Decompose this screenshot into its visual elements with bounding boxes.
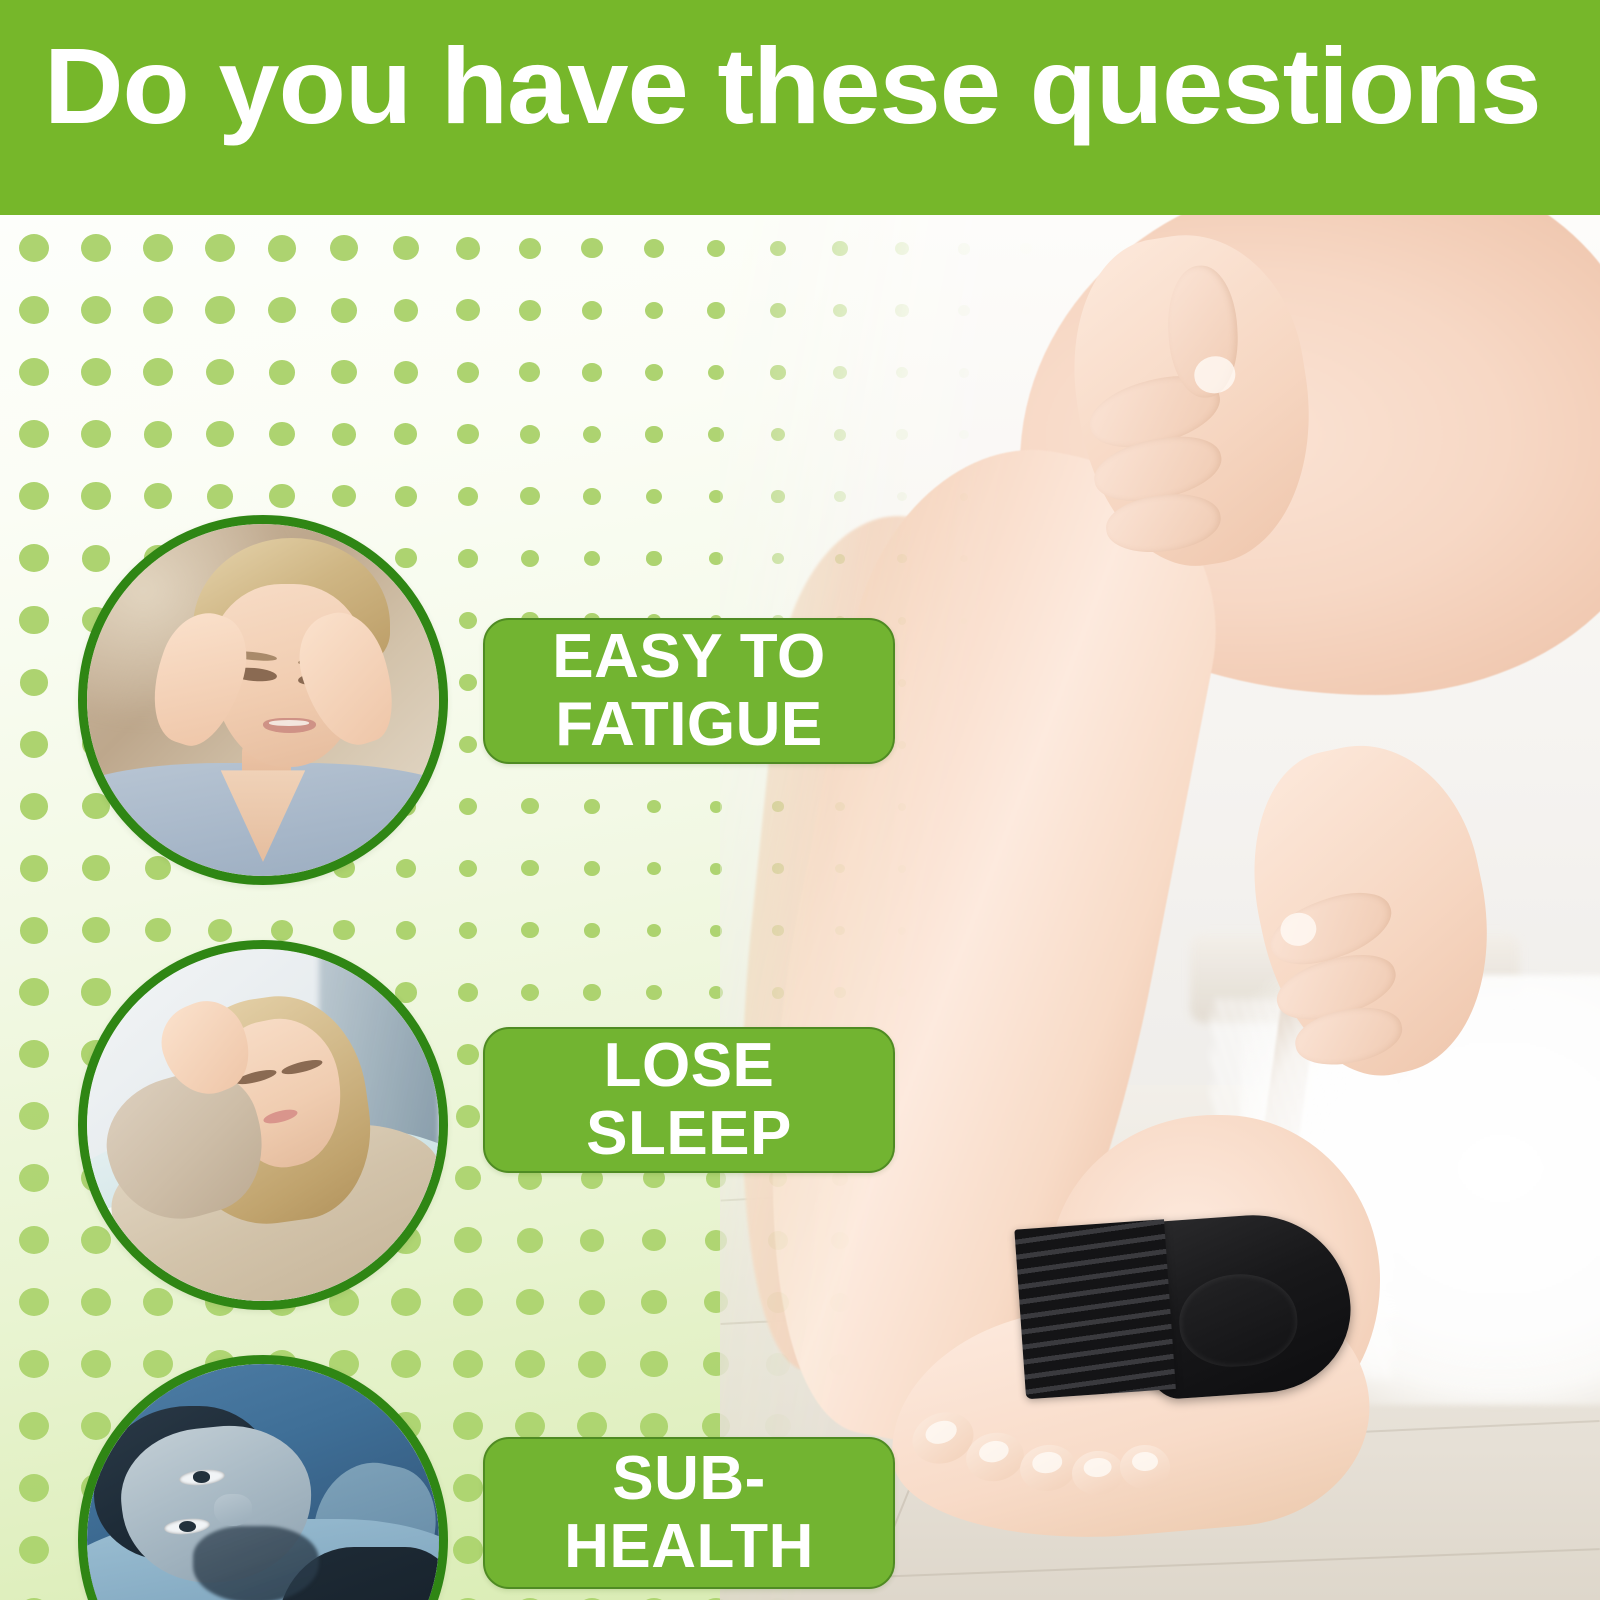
infographic-poster: Do you have these questions — [0, 0, 1600, 1600]
background-dot — [453, 1288, 483, 1316]
background-dot — [577, 1412, 607, 1440]
background-dot — [332, 485, 356, 507]
background-dot — [584, 551, 601, 567]
background-dot — [458, 549, 478, 567]
background-dot — [520, 487, 539, 505]
background-dot — [517, 1228, 543, 1253]
background-dot — [144, 483, 172, 509]
background-dot — [19, 234, 49, 262]
background-dot — [642, 1229, 665, 1251]
background-dot — [584, 923, 600, 938]
background-dot — [457, 424, 479, 444]
background-dot — [453, 1350, 483, 1378]
symptom-badge-fatigue[interactable]: EASY TO FATIGUE — [483, 618, 895, 764]
background-dot — [582, 301, 602, 320]
background-dot — [145, 918, 171, 942]
background-dot — [269, 484, 294, 508]
background-dot — [206, 359, 234, 386]
background-dot — [515, 1350, 545, 1378]
symptom-badge-fatigue-label: EASY TO FATIGUE — [499, 623, 879, 759]
background-dot — [516, 1289, 544, 1315]
background-dot — [396, 921, 416, 940]
background-dot — [458, 487, 479, 506]
background-dot — [19, 482, 49, 510]
background-dot — [640, 1351, 667, 1376]
background-dot — [459, 674, 478, 691]
background-dot — [519, 362, 540, 382]
background-dot — [19, 1164, 49, 1192]
background-dot — [19, 1412, 49, 1440]
background-dot — [646, 489, 662, 504]
background-dot — [583, 426, 602, 443]
background-dot — [521, 550, 539, 567]
background-dot — [457, 362, 479, 383]
background-dot — [269, 360, 296, 385]
background-dot — [456, 299, 479, 321]
background-dot — [457, 1044, 479, 1065]
background-dot — [459, 736, 478, 753]
background-dot — [143, 296, 173, 324]
background-dot — [81, 420, 111, 448]
badge-line-2: SLEEP — [586, 1099, 792, 1168]
background-dot — [144, 421, 173, 448]
background-dot — [271, 920, 294, 942]
header-banner: Do you have these questions — [0, 0, 1600, 215]
background-dot — [641, 1290, 666, 1314]
background-dot — [645, 302, 664, 320]
background-dot — [19, 1288, 49, 1316]
background-dot — [453, 1412, 483, 1440]
background-dot — [459, 860, 478, 877]
background-dot — [19, 1350, 49, 1378]
background-dot — [393, 236, 419, 260]
badge-line-2: FATIGUE — [555, 690, 823, 759]
background-dot — [584, 799, 600, 814]
background-dot — [583, 488, 601, 505]
background-dot — [330, 235, 357, 261]
sleepless-man-photo — [78, 1355, 448, 1600]
background-dot — [647, 862, 661, 875]
background-dot — [81, 296, 111, 324]
background-dot — [580, 1229, 605, 1252]
background-dot — [19, 544, 49, 572]
toe — [1120, 1445, 1170, 1489]
background-dot — [581, 238, 602, 258]
badge-line-1: LOSE — [604, 1031, 775, 1100]
background-dot — [456, 1105, 480, 1128]
background-dot — [521, 860, 538, 876]
background-dot — [332, 423, 356, 446]
background-dot — [19, 1474, 49, 1502]
background-dot — [81, 482, 110, 510]
background-dot — [19, 1040, 49, 1068]
background-dot — [19, 606, 48, 633]
background-dot — [644, 239, 664, 258]
background-dot — [20, 731, 49, 758]
background-dot — [20, 669, 49, 696]
background-dot — [207, 484, 234, 509]
background-dot — [582, 363, 602, 381]
background-dot — [520, 425, 540, 444]
hero-photo — [720, 215, 1600, 1600]
content-area: EASY TO FATIGUE LOSE SLEEP SUB- HEALTH — [0, 215, 1600, 1600]
background-dot — [583, 984, 600, 1000]
background-dot — [521, 984, 540, 1002]
arch-support-brace-product — [1013, 1189, 1357, 1422]
background-dot — [20, 793, 49, 820]
symptom-badge-sleep-label: LOSE SLEEP — [499, 1032, 879, 1168]
background-dot — [647, 924, 661, 937]
badge-line-1: SUB- — [612, 1444, 766, 1513]
background-dot — [19, 1536, 49, 1564]
background-dot — [268, 235, 297, 262]
background-dot — [584, 861, 600, 876]
brace-elastic-strap — [1014, 1219, 1175, 1399]
symptom-badge-health-label: SUB- HEALTH — [499, 1445, 879, 1581]
background-dot — [455, 1166, 481, 1190]
background-dot — [515, 1412, 545, 1440]
background-dot — [578, 1351, 607, 1378]
background-dot — [454, 1227, 482, 1253]
headache-photo — [78, 515, 448, 885]
background-dot — [394, 299, 419, 322]
background-dot — [19, 978, 49, 1006]
background-dot — [579, 1290, 606, 1315]
background-dot — [459, 612, 478, 630]
background-dot — [268, 297, 296, 323]
background-dot — [519, 238, 542, 260]
background-dot — [331, 298, 357, 323]
background-dot — [19, 358, 49, 386]
background-dot — [205, 234, 235, 262]
background-dot — [333, 920, 354, 940]
background-dot — [521, 798, 538, 814]
background-dot — [395, 486, 417, 507]
background-dot — [647, 800, 661, 813]
background-dot — [459, 798, 478, 815]
background-dot — [205, 296, 234, 324]
background-dot — [81, 234, 111, 262]
background-dot — [20, 917, 49, 944]
background-dot — [646, 985, 662, 1000]
symptom-badge-health[interactable]: SUB- HEALTH — [483, 1437, 895, 1589]
background-dot — [519, 300, 541, 321]
background-dot — [645, 364, 663, 381]
background-dot — [20, 855, 49, 882]
background-dot — [458, 983, 478, 1002]
background-dot — [19, 420, 49, 448]
background-dot — [645, 426, 662, 442]
badge-line-1: EASY TO — [552, 622, 825, 691]
background-dot — [19, 1102, 49, 1130]
background-dot — [19, 296, 49, 324]
page-title: Do you have these questions — [44, 30, 1600, 142]
background-dot — [331, 360, 356, 384]
beard — [193, 1526, 320, 1600]
background-dot — [394, 423, 417, 445]
background-dot — [459, 922, 478, 939]
background-dot — [646, 551, 661, 565]
background-dot — [521, 922, 538, 938]
background-dot — [206, 421, 233, 447]
background-dot — [143, 234, 173, 262]
background-dot — [82, 917, 109, 943]
insomnia-woman-photo — [78, 940, 448, 1310]
background-dot — [269, 422, 295, 446]
background-dot — [456, 237, 480, 260]
background-dot — [453, 1536, 483, 1564]
background-dot — [19, 1226, 49, 1254]
background-dot — [208, 919, 232, 942]
symptom-badge-sleep[interactable]: LOSE SLEEP — [483, 1027, 895, 1173]
badge-line-2: HEALTH — [564, 1512, 814, 1581]
background-dot — [143, 358, 173, 386]
background-dot — [640, 1413, 669, 1440]
background-dot — [394, 361, 418, 384]
background-dot — [453, 1474, 483, 1502]
background-dot — [81, 358, 111, 386]
